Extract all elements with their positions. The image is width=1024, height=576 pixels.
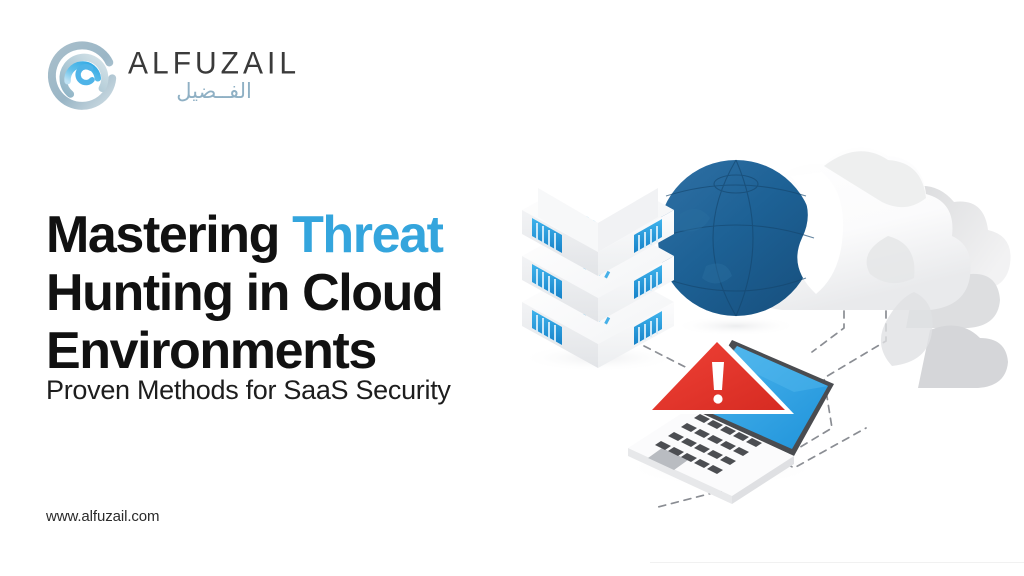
site-url[interactable]: www.alfuzail.com: [46, 508, 159, 525]
headline-line-3: Environments: [46, 322, 376, 380]
illustration-svg: [494, 96, 1024, 516]
slide-canvas: ALFUZAIL الفــضيل Mastering Threat Hunti…: [0, 0, 1024, 576]
headline-line-1: Mastering Threat: [46, 206, 443, 264]
cloud-security-illustration: [494, 96, 1024, 516]
brand-wordmark-group: ALFUZAIL الفــضيل: [128, 45, 300, 104]
exclamation-mark-icon: [712, 362, 724, 404]
page-subtitle: Proven Methods for SaaS Security: [46, 375, 451, 406]
page-title: Mastering Threat Hunting in Cloud Enviro…: [46, 207, 516, 381]
headline-line-2: Hunting in Cloud: [46, 264, 442, 322]
headline-prefix: Mastering: [46, 206, 292, 264]
server-stack-icon: [519, 142, 679, 372]
brand-logo[interactable]: ALFUZAIL الفــضيل: [46, 38, 300, 110]
headline-accent-word: Threat: [292, 206, 443, 264]
brand-wordmark-arabic: الفــضيل: [128, 80, 300, 103]
spiral-swirl-logo-icon: [46, 38, 118, 110]
footer-divider: [650, 562, 1024, 563]
brand-wordmark-latin: ALFUZAIL: [128, 48, 300, 80]
